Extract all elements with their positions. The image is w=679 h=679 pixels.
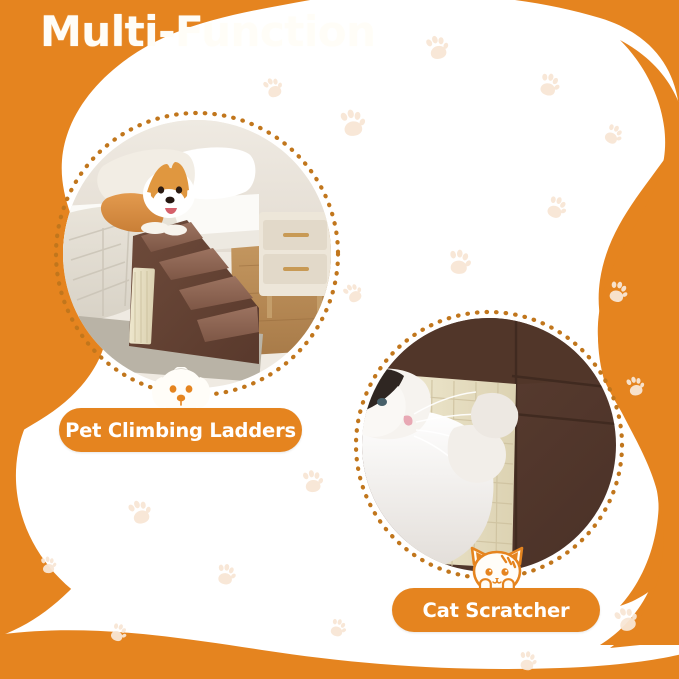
- page-title: Multi-Function: [40, 8, 376, 56]
- photo-dog-illustration: [63, 120, 331, 388]
- photo-pet-climbing-ladders[interactable]: [63, 120, 331, 388]
- pill-dog-text: Pet Climbing Ladders: [65, 419, 296, 442]
- photo-cat-illustration: [362, 318, 616, 572]
- label-cat-scratcher[interactable]: Cat Scratcher: [392, 588, 600, 632]
- product-graphic-canvas: Multi-Function: [0, 0, 679, 679]
- photo-cat-scratcher[interactable]: [362, 318, 616, 572]
- pill-cat-text: Cat Scratcher: [423, 599, 570, 622]
- label-pet-climbing-ladders[interactable]: Pet Climbing Ladders: [59, 408, 302, 452]
